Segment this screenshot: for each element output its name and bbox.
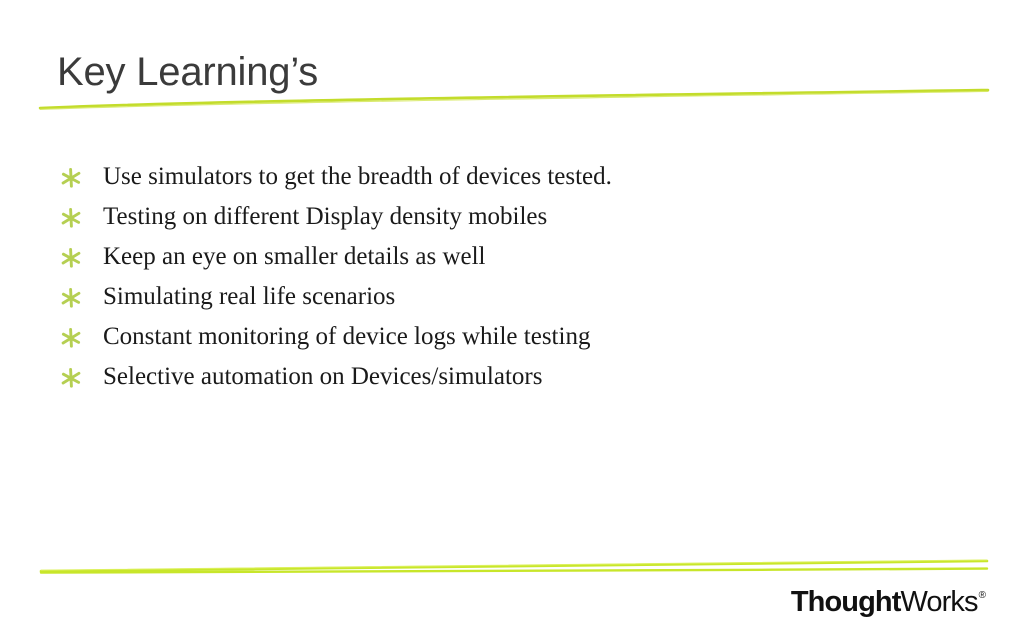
asterisk-star-icon <box>56 163 86 193</box>
page-title: Key Learning’s <box>57 50 318 95</box>
list-item-label: Simulating real life scenarios <box>103 281 956 313</box>
logo-thought-text: Thought <box>791 588 901 617</box>
list-item: Constant monitoring of device logs while… <box>56 321 956 361</box>
registered-trademark-icon: ® <box>979 591 986 601</box>
asterisk-star-icon <box>56 243 86 273</box>
bullet-list: Use simulators to get the breadth of dev… <box>56 161 956 401</box>
logo-works-text: Works <box>900 588 977 617</box>
list-item-label: Selective automation on Devices/simulato… <box>103 361 956 393</box>
list-item-label: Use simulators to get the breadth of dev… <box>103 161 956 193</box>
thoughtworks-logo: Thought Works ® <box>791 588 985 617</box>
list-item-label: Constant monitoring of device logs while… <box>103 321 956 353</box>
list-item: Use simulators to get the breadth of dev… <box>56 161 956 201</box>
list-item: Selective automation on Devices/simulato… <box>56 361 956 401</box>
asterisk-star-icon <box>56 323 86 353</box>
list-item: Keep an eye on smaller details as well <box>56 241 956 281</box>
list-item: Testing on different Display density mob… <box>56 201 956 241</box>
list-item-label: Keep an eye on smaller details as well <box>103 241 956 273</box>
list-item-label: Testing on different Display density mob… <box>103 201 956 233</box>
asterisk-star-icon <box>56 203 86 233</box>
footer-rule-decoration <box>38 552 990 582</box>
list-item: Simulating real life scenarios <box>56 281 956 321</box>
asterisk-star-icon <box>56 363 86 393</box>
slide-canvas: Key Learning’s Use simulators to get the… <box>0 0 1024 640</box>
asterisk-star-icon <box>56 283 86 313</box>
